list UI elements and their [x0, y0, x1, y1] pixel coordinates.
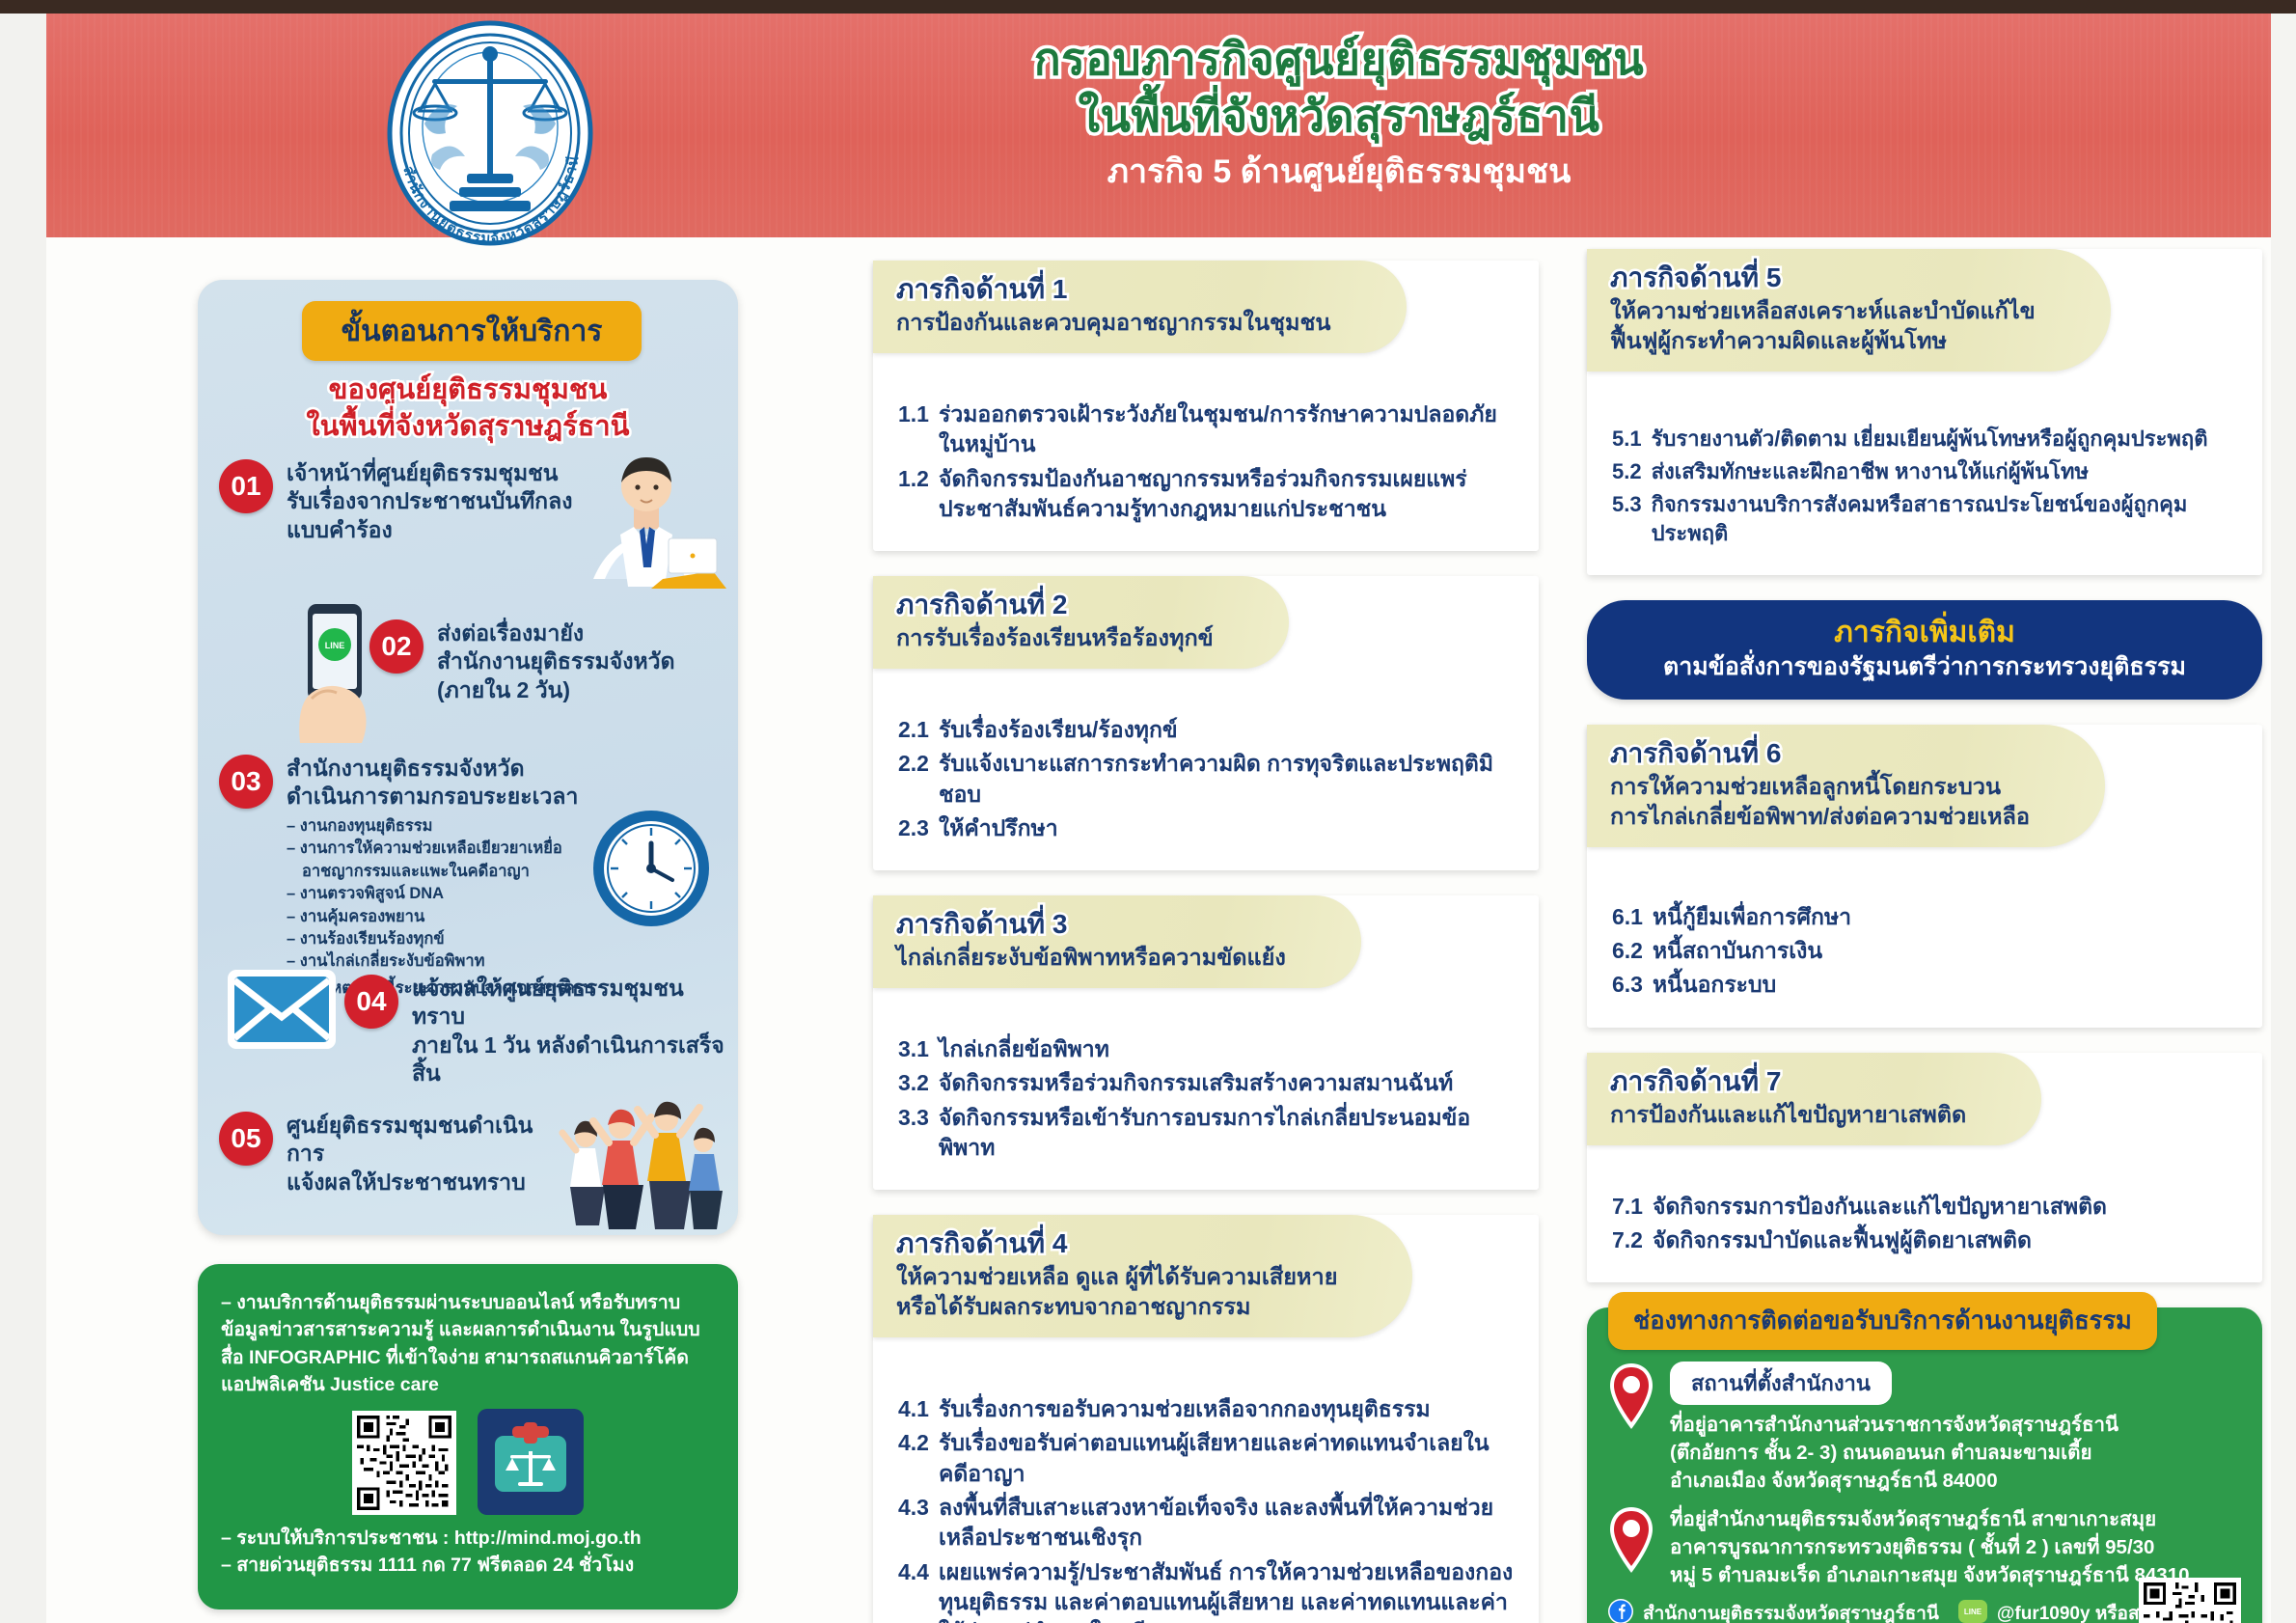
service-step-02: 02 ส่งต่อเรื่องมายังสำนักงานยุติธรรมจังห… [369, 619, 717, 704]
mission-item-key: 4.2 [898, 1428, 929, 1489]
mission-item-value: ส่งเสริมทักษะและฝึกอาชีพ หางานให้แก่ผู้พ… [1652, 457, 2237, 486]
mission-item: 2.2 รับแจ้งเบาะแสการกระทำความผิด การทุจร… [898, 749, 1514, 810]
mission-item-key: 3.1 [898, 1034, 929, 1064]
mission-card-5: ภารกิจด้านที่ 5 ให้ความช่วยเหลือสงเคราะห… [1587, 249, 2262, 575]
location-pin-icon [1608, 1505, 1658, 1589]
mission-item: 4.1 รับเรื่องการขอรับความช่วยเหลือจากกอง… [898, 1394, 1514, 1424]
mission-2-title: ภารกิจด้านที่ 2 [896, 590, 1214, 620]
mission-item: 3.2 จัดกิจกรรมหรือร่วมกิจกรรมเสริมสร้างค… [898, 1068, 1514, 1098]
mission-item-value: ให้คำปรึกษา [939, 813, 1514, 843]
mission-item-key: 1.2 [898, 464, 929, 525]
mission-item: 2.1 รับเรื่องร้องเรียน/ร้องทุกข์ [898, 715, 1514, 745]
step-number-05: 05 [219, 1112, 273, 1166]
mission-7-header: ภารกิจด้านที่ 7 การป้องกันและแก้ไขปัญหาย… [1587, 1053, 2041, 1145]
mission-item-value: หนี้สถาบันการเงิน [1653, 936, 2237, 966]
facebook-page-name[interactable]: สำนักงานยุติธรรมจังหวัดสุราษฎร์ธานี [1643, 1599, 1939, 1623]
poster-title-line1: กรอบภารกิจศูนย์ยุติธรรมชุมชน [722, 31, 1956, 88]
mission-item-key: 4.3 [898, 1493, 929, 1554]
mission-item-value: จัดกิจกรรมการป้องกันและแก้ไขปัญหายาเสพติ… [1653, 1192, 2237, 1222]
service-step-05: 05 ศูนย์ยุติธรรมชุมชนดำเนินการแจ้งผลให้ป… [219, 1112, 566, 1197]
mission-card-1: ภารกิจด้านที่ 1 การป้องกันและควบคุมอาชญา… [873, 261, 1539, 551]
mission-item-key: 3.3 [898, 1103, 929, 1164]
extra-missions-banner: ภารกิจเพิ่มเติม ตามข้อสั่งการของรัฐมนตรี… [1587, 600, 2262, 700]
mission-item-key: 2.2 [898, 749, 929, 810]
office-address-1-line-2: อำเภอเมือง จังหวัดสุราษฎร์ธานี 84000 [1670, 1467, 2241, 1495]
office-address-2-line-0: ที่อยู่สำนักงานยุติธรรมจังหวัดสุราษฎร์ธา… [1670, 1505, 2241, 1533]
mission-3-title: ภารกิจด้านที่ 3 [896, 909, 1286, 940]
mission-item-key: 6.3 [1612, 970, 1643, 1000]
step-text-02: ส่งต่อเรื่องมายังสำนักงานยุติธรรมจังหวัด… [437, 619, 675, 704]
envelope-illustration [225, 967, 339, 1057]
mission-item: 1.1 ร่วมออกตรวจเฝ้าระวังภัยในชุมชน/การรั… [898, 399, 1514, 460]
mission-2-subtitle: การรับเรื่องร้องเรียนหรือร้องทุกข์ [896, 623, 1214, 653]
mission-item-value: รับเรื่องขอรับค่าตอบแทนผู้เสียหายและค่าท… [939, 1428, 1514, 1489]
service-steps-card: ขั้นตอนการให้บริการ ของศูนย์ยุติธรรมชุมช… [198, 280, 738, 1235]
mission-item-key: 1.1 [898, 399, 929, 460]
step-number-01: 01 [219, 459, 273, 513]
contact-card: ช่องทางการติดต่อขอรับบริการด้านงานยุติธร… [1587, 1307, 2262, 1623]
header-band: สำนักงานยุติธรรมจังหวัดสุราษฎร์ธานี กรอบ… [46, 14, 2271, 237]
mission-item: 5.1 รับรายงานตัว/ติดตาม เยี่ยมเยียนผู้พ้… [1612, 425, 2237, 454]
mission-1-title: ภารกิจด้านที่ 1 [896, 274, 1331, 305]
mission-4-header: ภารกิจด้านที่ 4 ให้ความช่วยเหลือ ดูแล ผู… [873, 1215, 1412, 1337]
mission-4-title: ภารกิจด้านที่ 4 [896, 1228, 1337, 1259]
mission-item-key: 2.1 [898, 715, 929, 745]
right-column: ภารกิจด้านที่ 5 ให้ความช่วยเหลือสงเคราะห… [1587, 249, 2262, 1623]
mission-item: 6.1 หนี้กู้ยืมเพื่อการศึกษา [1612, 902, 2237, 932]
online-services-card: – งานบริการด้านยุติธรรมผ่านระบบออนไลน์ ห… [198, 1264, 738, 1609]
mission-item: 7.1 จัดกิจกรรมการป้องกันและแก้ไขปัญหายาเ… [1612, 1192, 2237, 1222]
mission-card-3: ภารกิจด้านที่ 3 ไกล่เกลี่ยระงับข้อพิพาทห… [873, 895, 1539, 1190]
mission-1-subtitle: การป้องกันและควบคุมอาชญากรรมในชุมชน [896, 308, 1331, 338]
mission-item-value: รับรายงานตัว/ติดตาม เยี่ยมเยียนผู้พ้นโทษ… [1652, 425, 2237, 454]
poster-root: สำนักงานยุติธรรมจังหวัดสุราษฎร์ธานี กรอบ… [0, 0, 2296, 1623]
mission-item-value: ร่วมออกตรวจเฝ้าระวังภัยในชุมชน/การรักษาค… [939, 399, 1514, 460]
mission-item: 7.2 จัดกิจกรรมบำบัดและฟื้นฟูผู้ติดยาเสพต… [1612, 1225, 2237, 1255]
mission-item: 3.1 ไกล่เกลี่ยข้อพิพาท [898, 1034, 1514, 1064]
mission-6-subtitle: การให้ความช่วยเหลือลูกหนี้โดยกระบวนการไก… [1610, 772, 2030, 832]
mission-item-value: จัดกิจกรรมป้องกันอาชญากรรมหรือร่วมกิจกรร… [939, 464, 1514, 525]
step-03-bullet-list: – งานกองทุนยุติธรรม – งานการให้ความช่วยเ… [287, 815, 593, 974]
step-text-05: ศูนย์ยุติธรรมชุมชนดำเนินการแจ้งผลให้ประช… [287, 1112, 566, 1197]
mission-item-key: 4.1 [898, 1394, 929, 1424]
mission-item-value: รับเรื่องการขอรับความช่วยเหลือจากกองทุนย… [939, 1394, 1514, 1424]
extra-missions-title: ภารกิจเพิ่มเติม [1606, 616, 2243, 650]
mission-item-key: 7.2 [1612, 1225, 1643, 1255]
mission-4-items: 4.1 รับเรื่องการขอรับความช่วยเหลือจากกอง… [898, 1394, 1514, 1623]
service-step-04: 04 แจ้งผลให้ศูนย์ยุติธรรมชุมชนทราบภายใน … [344, 975, 730, 1088]
mission-item: 1.2 จัดกิจกรรมป้องกันอาชญากรรมหรือร่วมกิ… [898, 464, 1514, 525]
paper-edge-top [0, 0, 2296, 14]
mission-item: 3.3 จัดกิจกรรมหรือเข้ารับการอบรมการไกล่เ… [898, 1103, 1514, 1164]
step-03-bullet-2: อาชญากรรมและแพะในคดีอาญา [287, 861, 593, 883]
office-address-2-line-1: อาคารบูรณาการกระทรวงยุติธรรม ( ชั้นที่ 2… [1670, 1533, 2241, 1561]
mission-1-header: ภารกิจด้านที่ 1 การป้องกันและควบคุมอาชญา… [873, 261, 1407, 353]
step-text-01: เจ้าหน้าที่ศูนย์ยุติธรรมชุมชนรับเรื่องจา… [287, 459, 572, 544]
mission-item: 5.3 กิจกรรมงานบริการสังคมหรือสาธารณประโย… [1612, 490, 2237, 548]
online-services-paragraph: – งานบริการด้านยุติธรรมผ่านระบบออนไลน์ ห… [221, 1289, 715, 1399]
mission-item-key: 5.3 [1612, 490, 1642, 548]
mission-3-header: ภารกิจด้านที่ 3 ไกล่เกลี่ยระงับข้อพิพาทห… [873, 895, 1361, 988]
step-03-bullet-3: – งานตรวจพิสูจน์ DNA [287, 883, 593, 905]
step-03-bullet-1: – งานการให้ความช่วยเหลือเยียวยาเหยื่อ [287, 838, 593, 860]
mission-item-key: 2.3 [898, 813, 929, 843]
paper-edge-left [0, 0, 46, 1623]
service-steps-subtitle-line1: ของศูนย์ยุติธรรมชุมชน [198, 372, 738, 409]
step-number-03: 03 [219, 755, 273, 809]
online-services-system-link[interactable]: – ระบบให้บริการประชาชน : http://mind.moj… [221, 1525, 715, 1552]
step-03-bullet-4: – งานคุ้มครองพยาน [287, 906, 593, 928]
online-services-links: – ระบบให้บริการประชาชน : http://mind.moj… [221, 1525, 715, 1580]
online-services-media [221, 1409, 715, 1515]
mission-item-key: 6.2 [1612, 936, 1643, 966]
step-03-bullet-5: – งานร้องเรียนร้องทุกข์ [287, 928, 593, 950]
extra-missions-subtitle: ตามข้อสั่งการของรัฐมนตรีว่าการกระทรวงยุต… [1606, 652, 2243, 682]
mission-card-2: ภารกิจด้านที่ 2 การรับเรื่องร้องเรียนหรื… [873, 576, 1539, 870]
step-text-03: สำนักงานยุติธรรมจังหวัดดำเนินการตามกรอบร… [287, 755, 593, 811]
mission-5-title: ภารกิจด้านที่ 5 [1610, 262, 2036, 293]
mission-4-subtitle: ให้ความช่วยเหลือ ดูแล ผู้ที่ได้รับความเส… [896, 1262, 1337, 1322]
mission-7-items: 7.1 จัดกิจกรรมการป้องกันและแก้ไขปัญหายาเ… [1612, 1192, 2237, 1256]
mission-item-value: กิจกรรมงานบริการสังคมหรือสาธารณประโยชน์ข… [1652, 490, 2237, 548]
middle-column-missions: ภารกิจด้านที่ 1 การป้องกันและควบคุมอาชญา… [873, 261, 1539, 1623]
mission-5-header: ภารกิจด้านที่ 5 ให้ความช่วยเหลือสงเคราะห… [1587, 249, 2111, 371]
mission-6-title: ภารกิจด้านที่ 6 [1610, 738, 2030, 769]
mission-item-value: ลงพื้นที่สืบเสาะแสวงหาข้อเท็จจริง และลงพ… [939, 1493, 1514, 1554]
cheering-people-illustration [553, 1079, 726, 1235]
man-with-laptop-illustration [584, 434, 728, 598]
mission-item-value: หนี้กู้ยืมเพื่อการศึกษา [1653, 902, 2237, 932]
office-address-1-row: สถานที่ตั้งสำนักงาน ที่อยู่อาคารสำนักงาน… [1608, 1362, 2241, 1495]
line-icon[interactable]: LINE [1958, 1600, 1987, 1623]
left-column: ขั้นตอนการให้บริการ ของศูนย์ยุติธรรมชุมช… [198, 280, 738, 1235]
mission-item-key: 4.4 [898, 1557, 929, 1623]
service-step-03: 03 สำนักงานยุติธรรมจังหวัดดำเนินการตามกร… [219, 755, 605, 1001]
line-official-account-qr-code [2139, 1578, 2241, 1623]
service-step-01: 01 เจ้าหน้าที่ศูนย์ยุติธรรมชุมชนรับเรื่อ… [219, 459, 624, 544]
svg-text:LINE: LINE [1964, 1608, 1982, 1616]
mission-2-header: ภารกิจด้านที่ 2 การรับเรื่องร้องเรียนหรื… [873, 576, 1289, 669]
mission-item-value: จัดกิจกรรมหรือร่วมกิจกรรมเสริมสร้างความส… [939, 1068, 1514, 1098]
service-steps-badge: ขั้นตอนการให้บริการ [302, 301, 642, 361]
office-address-2-body: ที่อยู่สำนักงานยุติธรรมจังหวัดสุราษฎร์ธา… [1670, 1505, 2241, 1589]
justice-care-qr-code [352, 1411, 456, 1515]
office-location-tag: สถานที่ตั้งสำนักงาน [1670, 1362, 1892, 1405]
svg-text:LINE: LINE [325, 641, 345, 650]
office-address-1-body: สถานที่ตั้งสำนักงาน ที่อยู่อาคารสำนักงาน… [1670, 1362, 2241, 1495]
mission-item-key: 7.1 [1612, 1192, 1643, 1222]
hand-holding-phone-line-app-illustration: LINE [283, 598, 387, 757]
mission-item: 5.2 ส่งเสริมทักษะและฝึกอาชีพ หางานให้แก่… [1612, 457, 2237, 486]
step-03-bullet-0: – งานกองทุนยุติธรรม [287, 815, 593, 838]
mission-item-key: 5.2 [1612, 457, 1642, 486]
mission-3-subtitle: ไกล่เกลี่ยระงับข้อพิพาทหรือความขัดแย้ง [896, 943, 1286, 973]
office-address-1-line-1: (ตึกอัยการ ชั้น 2- 3) ถนนดอนนก ตำบลมะขาม… [1670, 1439, 2241, 1467]
mission-6-items: 6.1 หนี้กู้ยืมเพื่อการศึกษา 6.2 หนี้สถาบ… [1612, 902, 2237, 1001]
mission-5-items: 5.1 รับรายงานตัว/ติดตาม เยี่ยมเยียนผู้พ้… [1612, 425, 2237, 548]
mission-7-subtitle: การป้องกันและแก้ไขปัญหายาเสพติด [1610, 1100, 1966, 1130]
mission-item-value: รับแจ้งเบาะแสการกระทำความผิด การทุจริตแล… [939, 749, 1514, 810]
step-number-04: 04 [344, 975, 398, 1029]
mission-item: 4.2 รับเรื่องขอรับค่าตอบแทนผู้เสียหายและ… [898, 1428, 1514, 1489]
mission-3-items: 3.1 ไกล่เกลี่ยข้อพิพาท 3.2 จัดกิจกรรมหรื… [898, 1034, 1514, 1163]
contact-card-header: ช่องทางการติดต่อขอรับบริการด้านงานยุติธร… [1608, 1292, 2157, 1350]
justice-care-app-icon [478, 1409, 584, 1515]
mission-item: 2.3 ให้คำปรึกษา [898, 813, 1514, 843]
poster-title-line2: ในพื้นที่จังหวัดสุราษฎร์ธานี [722, 88, 1956, 145]
step-03-content: สำนักงานยุติธรรมจังหวัดดำเนินการตามกรอบร… [287, 755, 593, 1001]
mission-item-value: หนี้นอกระบบ [1653, 970, 2237, 1000]
mission-card-7: ภารกิจด้านที่ 7 การป้องกันและแก้ไขปัญหาย… [1587, 1053, 2262, 1283]
location-pin-icon [1608, 1362, 1658, 1495]
mission-item-value: รับเรื่องร้องเรียน/ร้องทุกข์ [939, 715, 1514, 745]
poster-subtitle: ภารกิจ 5 ด้านศูนย์ยุติธรรมชุมชน [722, 151, 1956, 193]
header-title-group: กรอบภารกิจศูนย์ยุติธรรมชุมชน ในพื้นที่จั… [722, 31, 1956, 193]
ministry-of-justice-suratthani-emblem: สำนักงานยุติธรรมจังหวัดสุราษฎร์ธานี [374, 19, 606, 251]
office-address-1-line-0: ที่อยู่อาคารสำนักงานส่วนราชการจังหวัดสุร… [1670, 1411, 2241, 1439]
mission-item-value: จัดกิจกรรมบำบัดและฟื้นฟูผู้ติดยาเสพติด [1653, 1225, 2237, 1255]
mission-item-value: จัดกิจกรรมหรือเข้ารับการอบรมการไกล่เกลี่… [939, 1103, 1514, 1164]
step-text-04: แจ้งผลให้ศูนย์ยุติธรรมชุมชนทราบภายใน 1 ว… [412, 975, 730, 1088]
mission-item-value: ไกล่เกลี่ยข้อพิพาท [939, 1034, 1514, 1064]
mission-7-title: ภารกิจด้านที่ 7 [1610, 1066, 1966, 1097]
mission-card-6: ภารกิจด้านที่ 6 การให้ความช่วยเหลือลูกหน… [1587, 725, 2262, 1028]
mission-item-key: 6.1 [1612, 902, 1643, 932]
mission-2-items: 2.1 รับเรื่องร้องเรียน/ร้องทุกข์ 2.2 รับ… [898, 715, 1514, 843]
paper-edge-right [2271, 0, 2296, 1623]
mission-item: 4.4 เผยแพร่ความรู้/ประชาสัมพันธ์ การให้ค… [898, 1557, 1514, 1623]
mission-5-subtitle: ให้ความช่วยเหลือสงเคราะห์และบำบัดแก้ไขฟื… [1610, 296, 2036, 356]
mission-item-value: เผยแพร่ความรู้/ประชาสัมพันธ์ การให้ความช… [939, 1557, 1514, 1623]
mission-item-key: 5.1 [1612, 425, 1642, 454]
mission-item: 4.3 ลงพื้นที่สืบเสาะแสวงหาข้อเท็จจริง แล… [898, 1493, 1514, 1554]
mission-card-4: ภารกิจด้านที่ 4 ให้ความช่วยเหลือ ดูแล ผู… [873, 1215, 1539, 1623]
mission-6-header: ภารกิจด้านที่ 6 การให้ความช่วยเหลือลูกหน… [1587, 725, 2105, 847]
facebook-icon[interactable] [1608, 1599, 1633, 1623]
mission-item: 6.2 หนี้สถาบันการเงิน [1612, 936, 2237, 966]
mission-1-items: 1.1 ร่วมออกตรวจเฝ้าระวังภัยในชุมชน/การรั… [898, 399, 1514, 524]
office-address-2-row: ที่อยู่สำนักงานยุติธรรมจังหวัดสุราษฎร์ธา… [1608, 1505, 2241, 1589]
mission-item: 6.3 หนี้นอกระบบ [1612, 970, 2237, 1000]
clock-illustration [584, 801, 719, 941]
mission-item-key: 3.2 [898, 1068, 929, 1098]
online-services-hotline: – สายด่วนยุติธรรม 1111 กด 77 ฟรีตลอด 24 … [221, 1552, 715, 1579]
